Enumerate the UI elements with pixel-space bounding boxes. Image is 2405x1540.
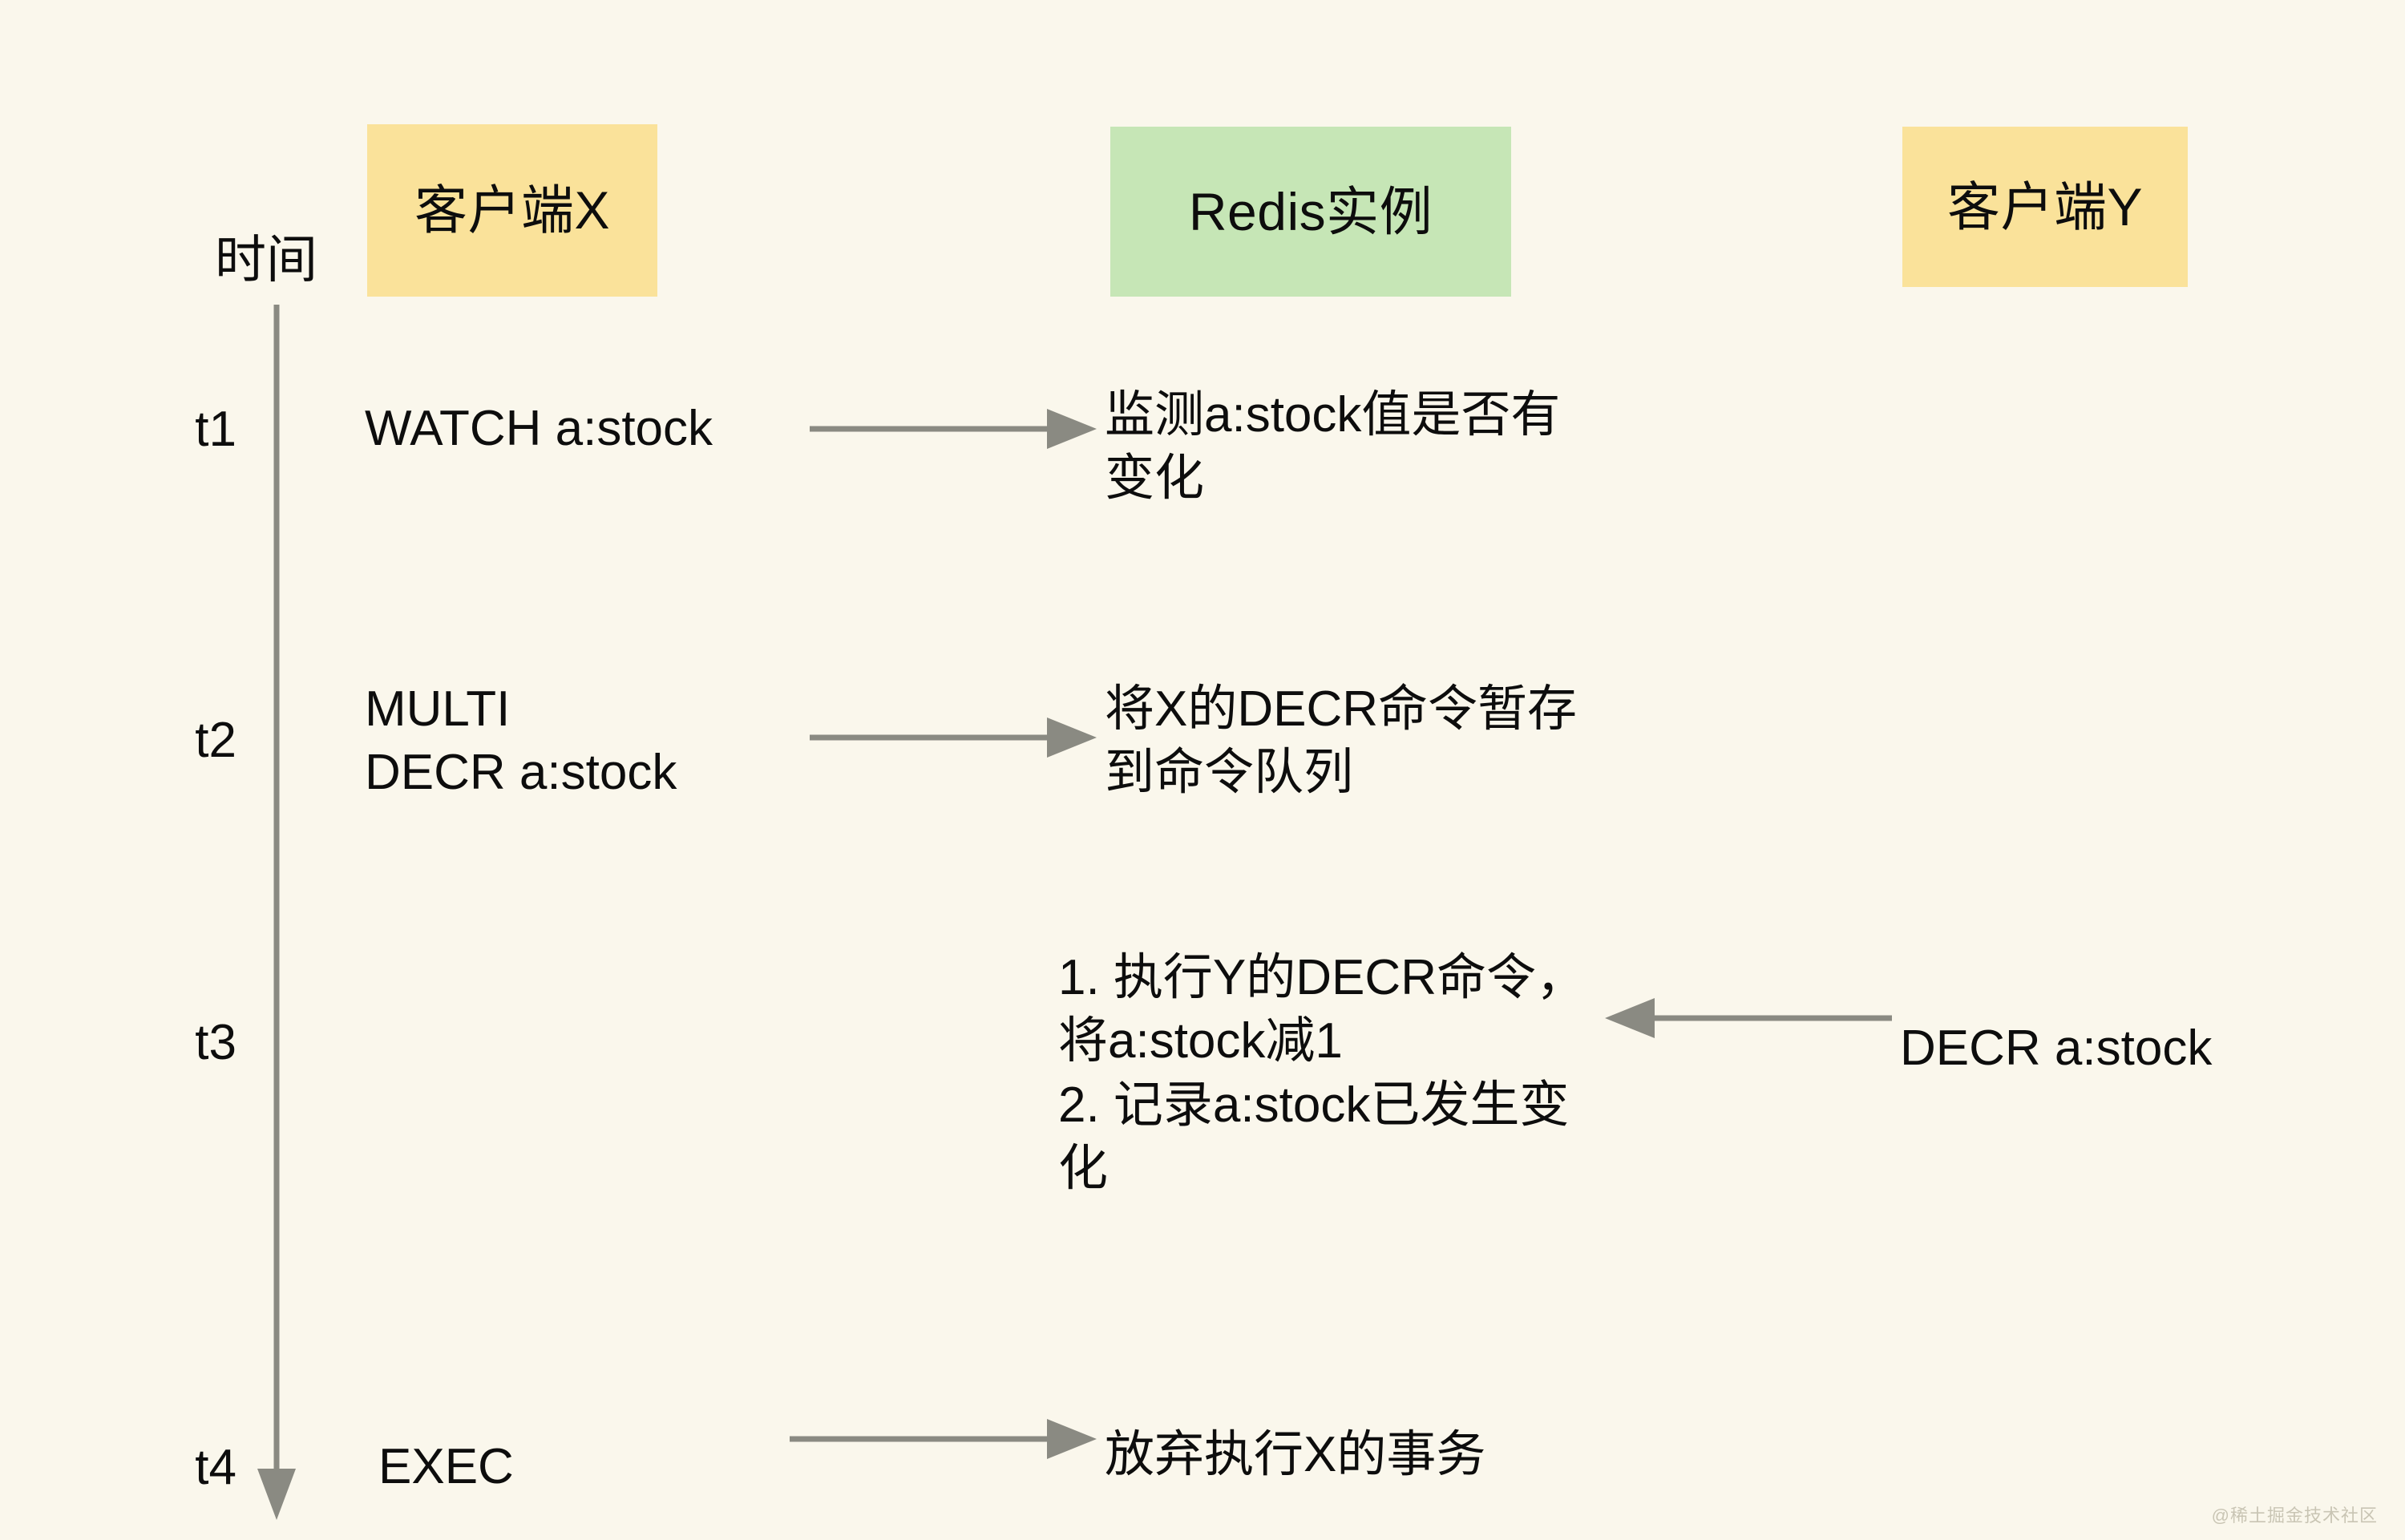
time-axis-label: 时间 xyxy=(215,234,317,285)
flow-arrow-t1-right xyxy=(810,401,1098,457)
flow-arrow-t2-right xyxy=(810,709,1098,766)
actor-box-client-y: 客户端Y xyxy=(1902,127,2188,287)
actor-box-client-x: 客户端X xyxy=(367,124,657,297)
actor-box-redis: Redis实例 xyxy=(1110,127,1511,297)
actor-label-redis: Redis实例 xyxy=(1189,183,1433,241)
flow-arrow-t4-right xyxy=(790,1411,1098,1467)
time-tick-t3: t3 xyxy=(140,1018,236,1068)
watermark: @稀土掘金技术社区 xyxy=(2212,1502,2378,1527)
actor-label-client-x: 客户端X xyxy=(414,181,610,240)
message-redis-t3: 1. 执行Y的DECR命令，将a:stock减1 2. 记录a:stock已发生… xyxy=(1058,946,1603,1200)
time-tick-t1: t1 xyxy=(140,405,236,455)
message-redis-t4: 放弃执行X的事务 xyxy=(1105,1423,1666,1486)
flow-arrow-t3-left xyxy=(1603,990,1892,1046)
time-axis-arrow xyxy=(240,305,313,1523)
diagram-canvas: 客户端X Redis实例 客户端Y 时间 t1 t2 t3 t4 WATCH a… xyxy=(0,0,2405,1540)
time-tick-t4: t4 xyxy=(140,1443,236,1493)
actor-label-client-y: 客户端Y xyxy=(1947,178,2143,236)
time-tick-t2: t2 xyxy=(140,716,236,766)
message-redis-t2: 将X的DECR命令暂存到命令队列 xyxy=(1105,677,1602,805)
message-redis-t1: 监测a:stock值是否有变化 xyxy=(1105,383,1602,511)
message-client-y-t3: DECR a:stock xyxy=(1900,1017,2405,1080)
